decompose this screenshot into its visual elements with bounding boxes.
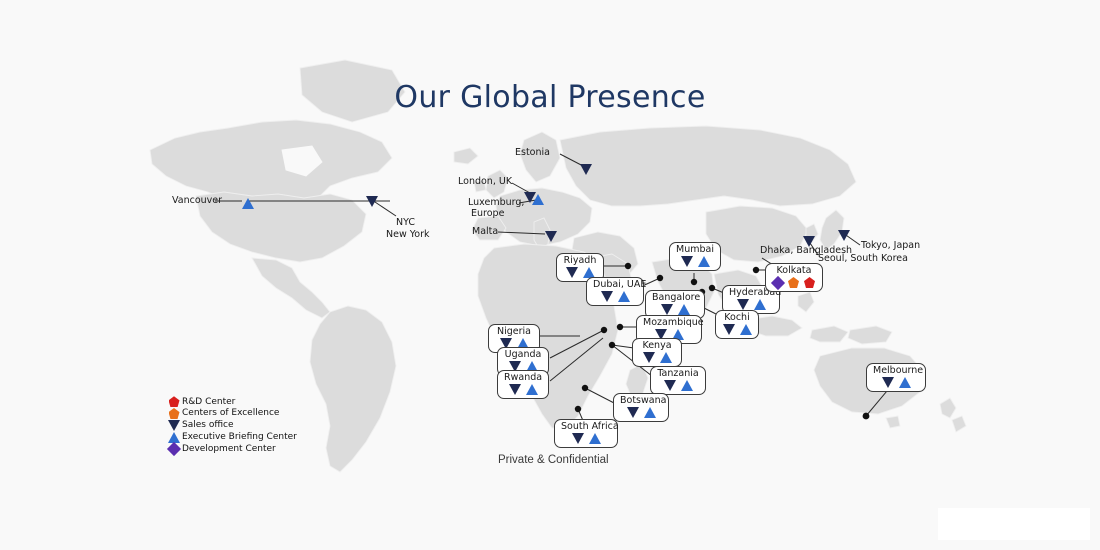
label-europe: Europe xyxy=(471,209,504,220)
legend-label: R&D Center xyxy=(182,397,235,407)
callout-tanzania[interactable]: Tanzania xyxy=(650,366,706,395)
pentagon-orange-icon xyxy=(166,408,182,419)
triangle-down-navy-icon xyxy=(882,377,894,388)
callout-label: Mozambique xyxy=(643,318,695,328)
legend-label: Sales office xyxy=(182,420,234,430)
label-vancouver: Vancouver xyxy=(172,196,222,207)
triangle-up-blue-icon xyxy=(660,352,672,363)
legend-item-centers-of-excellence: Centers of Excellence xyxy=(166,408,316,419)
callout-label: Kenya xyxy=(639,341,675,351)
triangle-down-navy-icon xyxy=(366,196,378,207)
marker-nyc[interactable] xyxy=(366,194,378,212)
triangle-down-navy-icon xyxy=(601,291,613,302)
triangle-down-navy-icon xyxy=(838,230,850,241)
diamond-purple-icon xyxy=(166,444,182,454)
triangle-down-navy-icon xyxy=(661,304,673,315)
callout-dubai-uae[interactable]: Dubai, UAE xyxy=(586,277,644,306)
triangle-up-blue-icon xyxy=(526,384,538,395)
triangle-up-blue-icon xyxy=(618,291,630,302)
legend-item-rnd-center: R&D Center xyxy=(166,396,316,407)
legend-label: Centers of Excellence xyxy=(182,408,279,418)
callout-label: Nigeria xyxy=(495,327,533,337)
pentagon-red-icon xyxy=(166,396,182,407)
triangle-up-blue-icon xyxy=(644,407,656,418)
callout-kolkata[interactable]: Kolkata xyxy=(765,263,823,292)
callout-icons xyxy=(561,433,611,445)
triangle-up-blue-icon xyxy=(681,380,693,391)
marker-malta[interactable] xyxy=(545,229,557,247)
triangle-up-blue-icon xyxy=(589,433,601,444)
callout-label: Bangalore xyxy=(652,293,698,303)
callout-label: Botswana xyxy=(620,396,662,406)
callout-icons xyxy=(676,256,714,268)
marker-luxemburg[interactable] xyxy=(532,192,544,210)
callout-botswana[interactable]: Botswana xyxy=(613,393,669,422)
label-malta: Malta xyxy=(472,227,498,238)
callout-label: Riyadh xyxy=(563,256,597,266)
callout-label: Dubai, UAE xyxy=(593,280,637,290)
label-new-york: New York xyxy=(386,230,430,241)
callout-mumbai[interactable]: Mumbai xyxy=(669,242,721,271)
pentagon-orange-icon xyxy=(788,277,799,288)
triangle-up-blue-icon xyxy=(899,377,911,388)
callout-label: Tanzania xyxy=(657,369,699,379)
triangle-down-navy-icon xyxy=(627,407,639,418)
triangle-down-navy-icon xyxy=(509,384,521,395)
callout-kochi[interactable]: Kochi xyxy=(715,310,759,339)
triangle-down-navy-icon xyxy=(580,164,592,175)
callout-label: Melbourne xyxy=(873,366,919,376)
callout-icons xyxy=(729,299,773,311)
callout-icons xyxy=(620,407,662,419)
marker-vancouver[interactable] xyxy=(242,196,254,214)
pentagon-red-icon xyxy=(804,277,815,288)
callout-label: Rwanda xyxy=(504,373,542,383)
triangle-down-navy-icon xyxy=(572,433,584,444)
callout-label: Mumbai xyxy=(676,245,714,255)
triangle-down-navy-icon xyxy=(681,256,693,267)
callout-south-africa[interactable]: South Africa xyxy=(554,419,618,448)
callout-rwanda[interactable]: Rwanda xyxy=(497,370,549,399)
triangle-down-navy-icon xyxy=(643,352,655,363)
triangle-down-navy-icon xyxy=(166,420,182,431)
label-tokyo: Tokyo, Japan xyxy=(861,241,920,252)
legend-label: Executive Briefing Center xyxy=(182,432,297,442)
triangle-down-navy-icon xyxy=(664,380,676,391)
triangle-down-navy-icon xyxy=(723,324,735,335)
callout-label: Kolkata xyxy=(772,266,816,276)
marker-estonia[interactable] xyxy=(580,162,592,180)
diamond-purple-icon xyxy=(771,275,785,289)
callout-icons xyxy=(504,384,542,396)
callout-label: Uganda xyxy=(504,350,542,360)
callout-kenya[interactable]: Kenya xyxy=(632,338,682,367)
marker-tokyo[interactable] xyxy=(838,228,850,246)
triangle-up-blue-icon xyxy=(754,299,766,310)
page-title: Our Global Presence xyxy=(0,80,1100,115)
label-estonia: Estonia xyxy=(515,148,550,159)
legend-item-development-center: Development Center xyxy=(166,443,316,454)
label-nyc: NYC xyxy=(396,218,415,229)
legend-item-sales-office: Sales office xyxy=(166,420,316,431)
triangle-up-blue-icon xyxy=(532,194,544,205)
triangle-up-blue-icon xyxy=(166,432,182,443)
slide-canvas: Our Global Presence Vancouver NYC New Yo… xyxy=(0,0,1100,550)
triangle-up-blue-icon xyxy=(242,198,254,209)
callout-icons xyxy=(873,377,919,389)
callout-melbourne[interactable]: Melbourne xyxy=(866,363,926,392)
legend-item-executive-briefing-center: Executive Briefing Center xyxy=(166,431,316,442)
callout-icons xyxy=(772,277,816,289)
legend-label: Development Center xyxy=(182,444,276,454)
triangle-up-blue-icon xyxy=(740,324,752,335)
confidentiality-notice: Private & Confidential xyxy=(498,454,609,466)
label-london: London, UK xyxy=(458,177,512,188)
legend: R&D Center Centers of Excellence Sales o… xyxy=(166,396,316,455)
triangle-down-navy-icon xyxy=(737,299,749,310)
callout-icons xyxy=(593,291,637,303)
callout-label: South Africa xyxy=(561,422,611,432)
callout-icons xyxy=(657,380,699,392)
callout-icons xyxy=(639,352,675,364)
triangle-down-navy-icon xyxy=(545,231,557,242)
bottom-right-blank-box xyxy=(938,508,1090,540)
callout-icons xyxy=(652,304,698,316)
callout-label: Kochi xyxy=(722,313,752,323)
triangle-up-blue-icon xyxy=(698,256,710,267)
callout-icons xyxy=(722,324,752,336)
label-seoul: Seoul, South Korea xyxy=(818,254,908,265)
triangle-up-blue-icon xyxy=(678,304,690,315)
triangle-down-navy-icon xyxy=(566,267,578,278)
